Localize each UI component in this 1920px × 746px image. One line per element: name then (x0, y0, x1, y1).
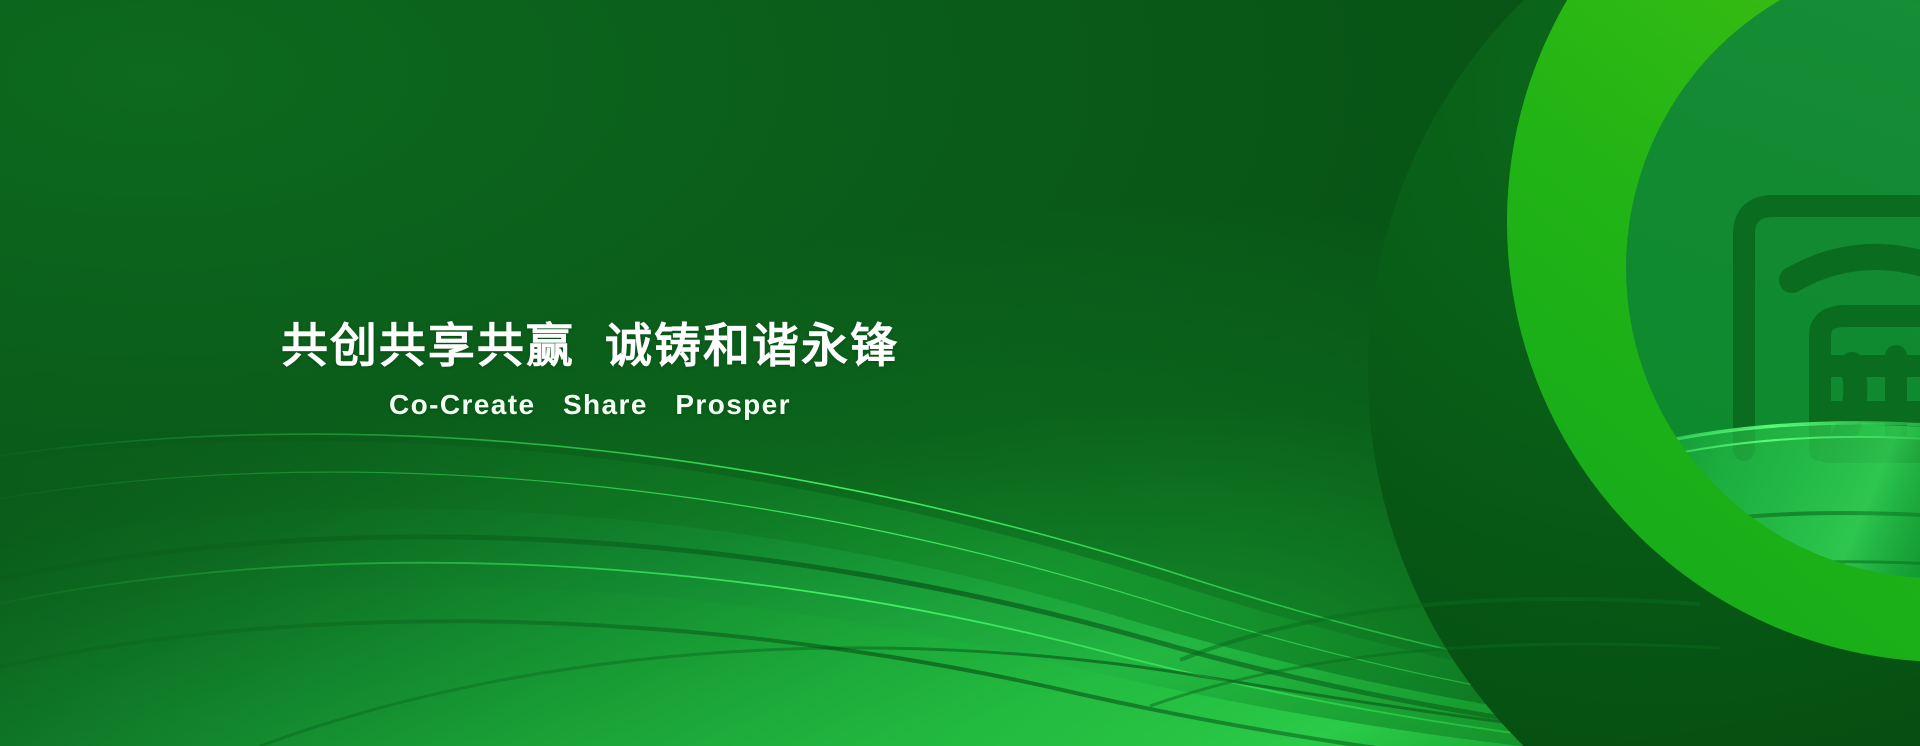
page-subtitle: Co-Create Share Prosper (0, 389, 1180, 421)
wave-over-inner-circle-1 (1560, 424, 1920, 620)
banner-text-block: 共创共享共赢 诚铸和谐永锋 Co-Create Share Prosper (0, 318, 1180, 421)
wave-echo-1 (1180, 599, 1700, 660)
hero-banner: 共创共享共赢 诚铸和谐永锋 Co-Create Share Prosper (0, 0, 1920, 746)
page-title: 共创共享共赢 诚铸和谐永锋 (0, 318, 1180, 373)
wave-echo-2 (1150, 644, 1720, 706)
